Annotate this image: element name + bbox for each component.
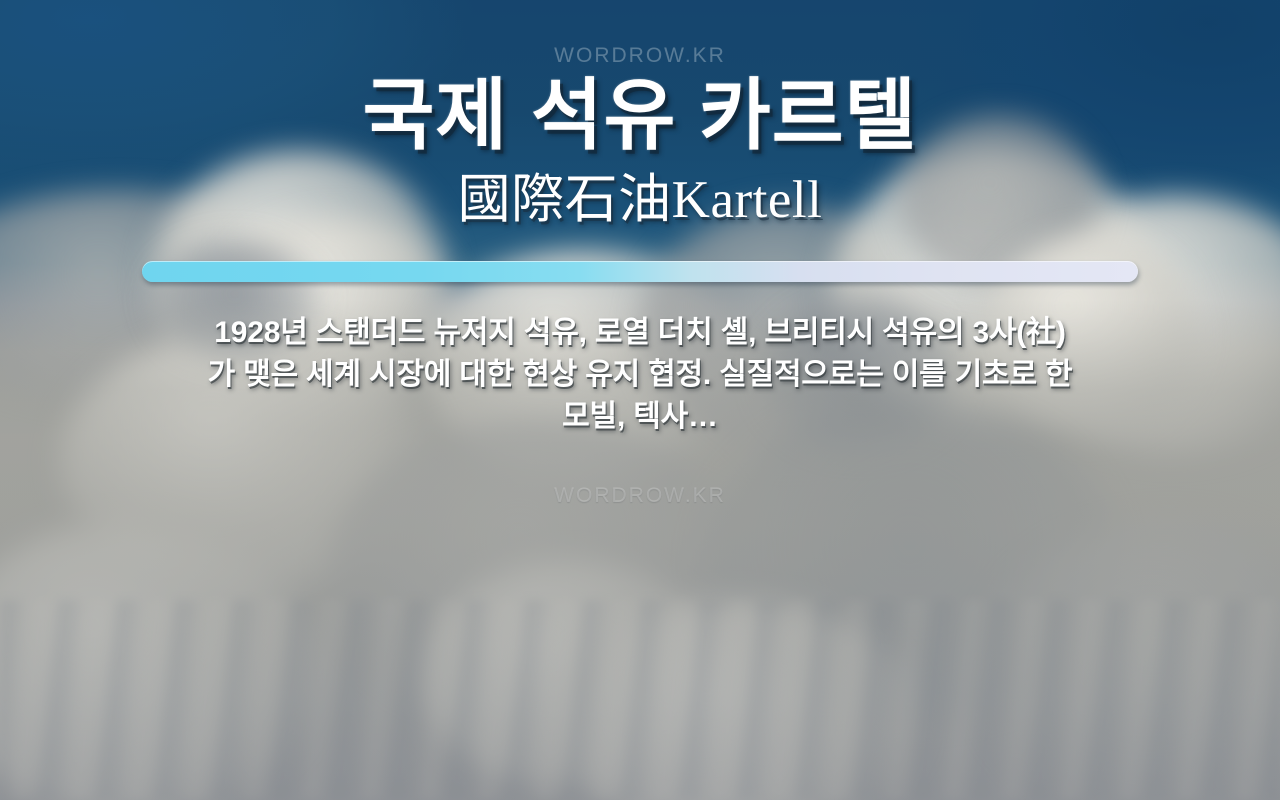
watermark-middle: WORDROW.KR <box>0 484 1280 508</box>
definition-line-1: 1928년 스탠더드 뉴저지 석유, 로열 더치 셸, 브리티시 석유의 3사(… <box>138 312 1142 354</box>
definition-line-3: 모빌, 텍사… <box>138 396 1142 438</box>
definition-text: 1928년 스탠더드 뉴저지 석유, 로열 더치 셸, 브리티시 석유의 3사(… <box>138 312 1142 438</box>
word-definition-card: WORDROW.KR 국제 석유 카르텔 國際石油Kartell 1928년 스… <box>0 0 1280 800</box>
gradient-divider-bar <box>142 261 1138 282</box>
page-subtitle-hanja: 國際石油Kartell <box>458 171 823 229</box>
definition-line-2: 가 맺은 세계 시장에 대한 현상 유지 협정. 실질적으로는 이를 기초로 한 <box>138 354 1142 396</box>
page-title: 국제 석유 카르텔 <box>363 74 918 157</box>
card-content: 국제 석유 카르텔 國際石油Kartell 1928년 스탠더드 뉴저지 석유,… <box>0 0 1280 800</box>
